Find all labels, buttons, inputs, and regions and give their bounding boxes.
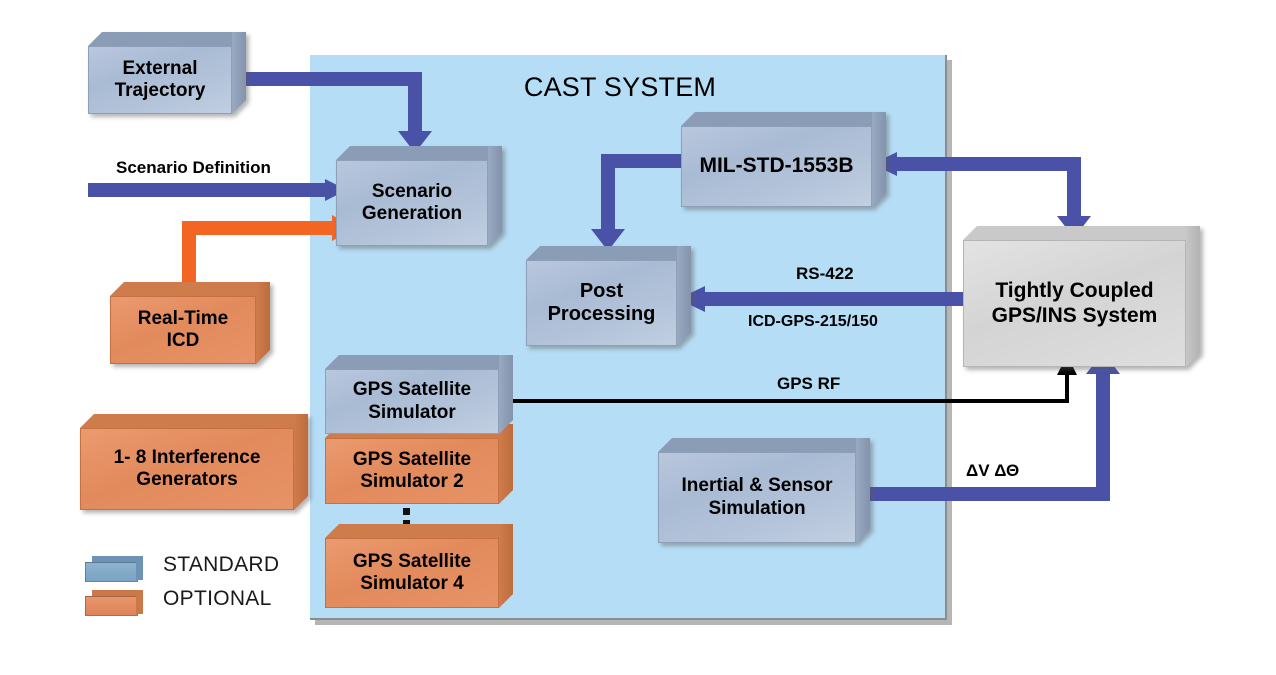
box-label-line1: GPS Satellite bbox=[353, 379, 471, 400]
legend-swatch-optional bbox=[85, 590, 143, 614]
legend-label-optional: OPTIONAL bbox=[163, 587, 272, 611]
box-post-processing[interactable]: Post Processing bbox=[526, 246, 691, 346]
label-rs-422: RS-422 bbox=[796, 264, 854, 284]
box-side-face bbox=[1186, 226, 1200, 367]
legend-swatch-standard bbox=[85, 556, 143, 580]
box-gps-satellite-simulator-2[interactable]: GPS Satellite Simulator 2 bbox=[325, 424, 513, 504]
box-top-face bbox=[325, 524, 513, 538]
box-side-face bbox=[499, 524, 513, 608]
box-top-face bbox=[963, 226, 1200, 240]
box-label: MIL-STD-1553B bbox=[681, 126, 872, 207]
box-label-line2: GPS/INS System bbox=[992, 304, 1158, 327]
box-side-face bbox=[488, 146, 502, 246]
box-label-line1: GPS Satellite bbox=[353, 551, 471, 572]
box-label-line2: Processing bbox=[548, 303, 656, 325]
box-tightly-coupled-gps-ins[interactable]: Tightly Coupled GPS/INS System bbox=[963, 226, 1200, 367]
box-side-face bbox=[872, 112, 886, 207]
box-label: Tightly Coupled GPS/INS System bbox=[963, 240, 1186, 367]
box-label-line1: MIL-STD-1553B bbox=[699, 154, 853, 178]
box-top-face bbox=[526, 246, 691, 260]
diagram-canvas: CAST SYSTEM Scenario Definition RS-422 I… bbox=[0, 0, 1276, 675]
connector-dv-dtheta-v bbox=[1096, 371, 1110, 501]
box-label-line2: Simulator bbox=[368, 402, 456, 423]
box-label-line2: Generation bbox=[362, 203, 462, 224]
legend-label-standard: STANDARD bbox=[163, 553, 279, 577]
box-side-face bbox=[499, 424, 513, 504]
connector-gps-rf-h bbox=[496, 399, 1069, 403]
box-top-face bbox=[80, 414, 308, 428]
box-label-line2: Simulation bbox=[708, 498, 805, 519]
box-top-face bbox=[110, 282, 270, 296]
box-side-face bbox=[256, 282, 270, 364]
box-label: GPS Satellite Simulator 2 bbox=[325, 438, 499, 504]
box-label: 1- 8 Interference Generators bbox=[80, 428, 294, 510]
box-label-line1: Scenario bbox=[372, 181, 452, 202]
swatch-front-face bbox=[85, 596, 138, 616]
box-label-line1: External bbox=[123, 58, 198, 79]
box-label: Inertial & Sensor Simulation bbox=[658, 452, 856, 543]
box-label: External Trajectory bbox=[88, 46, 232, 114]
box-gps-satellite-simulator[interactable]: GPS Satellite Simulator bbox=[325, 355, 513, 434]
cast-system-title: CAST SYSTEM bbox=[420, 72, 820, 103]
box-label-line1: 1- 8 Interference bbox=[114, 447, 261, 468]
box-label-line2: Generators bbox=[136, 469, 237, 490]
box-label: Post Processing bbox=[526, 260, 677, 346]
swatch-front-face bbox=[85, 562, 138, 582]
box-label: Scenario Generation bbox=[336, 160, 488, 246]
box-external-trajectory[interactable]: External Trajectory bbox=[88, 32, 246, 114]
connector-rt-icd-h bbox=[182, 221, 336, 235]
box-interference-generators[interactable]: 1- 8 Interference Generators bbox=[80, 414, 308, 510]
box-scenario-generation[interactable]: Scenario Generation bbox=[336, 146, 502, 246]
connector-gps-rf-v bbox=[1065, 373, 1069, 403]
box-label-line2: Simulator 2 bbox=[360, 471, 463, 492]
box-top-face bbox=[658, 438, 870, 452]
label-scenario-definition: Scenario Definition bbox=[116, 158, 271, 178]
box-label: GPS Satellite Simulator bbox=[325, 369, 499, 434]
connector-scenario-definition-shaft bbox=[88, 183, 329, 197]
box-side-face bbox=[677, 246, 691, 346]
box-label: GPS Satellite Simulator 4 bbox=[325, 538, 499, 608]
box-side-face bbox=[499, 355, 513, 434]
label-delta-v-theta: ΔV ΔΘ bbox=[966, 461, 1019, 481]
box-gps-satellite-simulator-4[interactable]: GPS Satellite Simulator 4 bbox=[325, 524, 513, 608]
box-label-line2: Simulator 4 bbox=[360, 573, 463, 594]
connector-tc-bus-v bbox=[1067, 157, 1081, 219]
box-mil-std-1553b[interactable]: MIL-STD-1553B bbox=[681, 112, 886, 207]
connector-dv-dtheta-h bbox=[855, 487, 1110, 501]
box-side-face bbox=[294, 414, 308, 510]
box-top-face bbox=[336, 146, 502, 160]
box-label-line2: Trajectory bbox=[115, 80, 206, 101]
box-label-line1: Post bbox=[580, 280, 623, 302]
box-label-line1: Real-Time bbox=[138, 308, 228, 329]
box-label: Real-Time ICD bbox=[110, 296, 256, 364]
box-side-face bbox=[856, 438, 870, 543]
box-top-face bbox=[325, 355, 513, 369]
box-real-time-icd[interactable]: Real-Time ICD bbox=[110, 282, 270, 364]
box-top-face bbox=[681, 112, 886, 126]
box-label-line2: ICD bbox=[167, 330, 200, 351]
connector-external-trajectory-h bbox=[228, 72, 422, 86]
box-side-face bbox=[232, 32, 246, 114]
box-top-face bbox=[88, 32, 246, 46]
box-label-line1: Inertial & Sensor bbox=[682, 475, 833, 496]
swatch-side-face bbox=[136, 590, 143, 614]
connector-mil-to-post-v bbox=[601, 154, 615, 232]
connector-external-trajectory-v bbox=[408, 72, 422, 135]
connector-tc-bus-h bbox=[895, 157, 1081, 171]
box-label-line1: GPS Satellite bbox=[353, 449, 471, 470]
connector-rs422-shaft bbox=[705, 292, 963, 306]
label-icd-gps: ICD-GPS-215/150 bbox=[748, 313, 878, 331]
label-gps-rf: GPS RF bbox=[777, 374, 840, 394]
swatch-side-face bbox=[136, 556, 143, 580]
box-inertial-sensor-simulation[interactable]: Inertial & Sensor Simulation bbox=[658, 438, 870, 543]
box-label-line1: Tightly Coupled bbox=[995, 279, 1153, 302]
